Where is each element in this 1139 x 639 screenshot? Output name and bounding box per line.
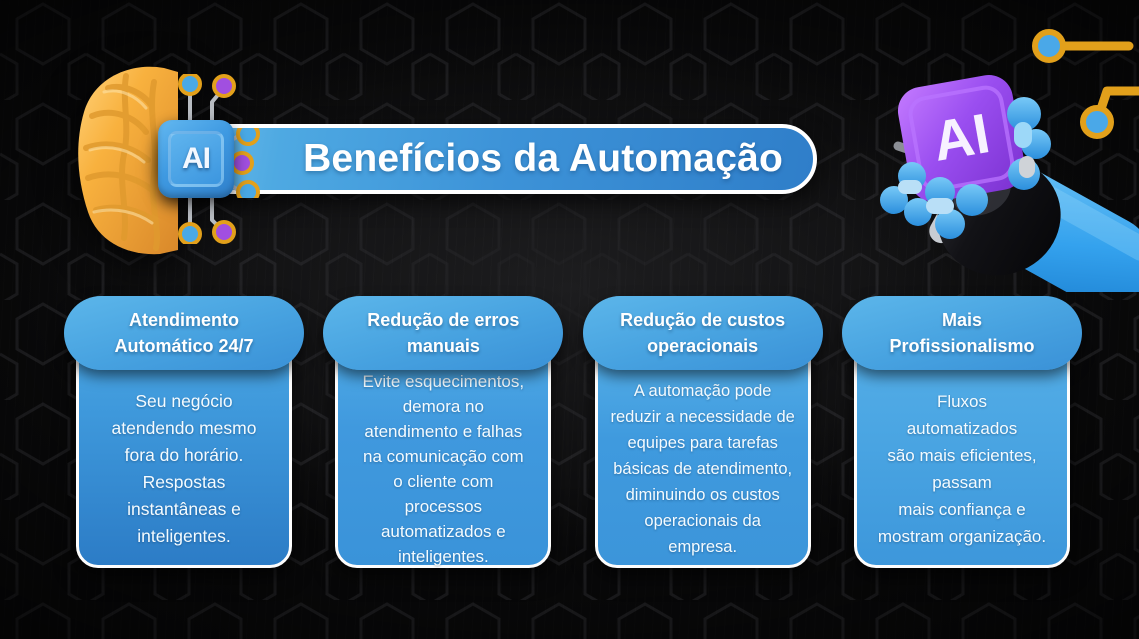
benefit-card-3[interactable]: A automação pode reduzir a necessidade d… [583, 296, 823, 572]
card-header: Redução de erros manuais [323, 296, 563, 370]
card-header-text: Redução de custos operacionais [620, 307, 785, 359]
chip-label: AI [182, 142, 210, 176]
card-header: Mais Profissionalismo [842, 296, 1082, 370]
svg-text:AI: AI [928, 101, 994, 173]
page-title: Benefícios da Automação [303, 137, 789, 181]
card-body-text: Fluxos automatizados são mais eficientes… [878, 388, 1046, 550]
card-header: Atendimento Automático 24/7 [64, 296, 304, 370]
ai-chip-icon: AI [158, 120, 234, 198]
benefit-card-4[interactable]: Fluxos automatizados são mais eficientes… [842, 296, 1082, 572]
title-banner: Benefícios da Automação [160, 124, 817, 194]
chip-inner: AI [168, 131, 224, 187]
card-body-text: Seu negócio atendendo mesmo fora do horá… [112, 388, 257, 550]
infographic-canvas: AI [0, 0, 1139, 639]
benefit-card-1[interactable]: Seu negócio atendendo mesmo fora do horá… [64, 296, 304, 572]
card-header-text: Atendimento Automático 24/7 [114, 307, 253, 359]
card-header-text: Redução de erros manuais [367, 307, 519, 359]
card-header-text: Mais Profissionalismo [889, 307, 1034, 359]
chip-body: AI [158, 120, 234, 198]
robot-hand-icon: AI [854, 52, 1139, 292]
card-body-text: A automação pode reduzir a necessidade d… [610, 378, 794, 560]
card-body-text: Evite esquecimentos, demora no atendimen… [363, 369, 525, 569]
benefits-card-row: Seu negócio atendendo mesmo fora do horá… [64, 296, 1082, 572]
benefit-card-2[interactable]: Evite esquecimentos, demora no atendimen… [323, 296, 563, 572]
card-header: Redução de custos operacionais [583, 296, 823, 370]
